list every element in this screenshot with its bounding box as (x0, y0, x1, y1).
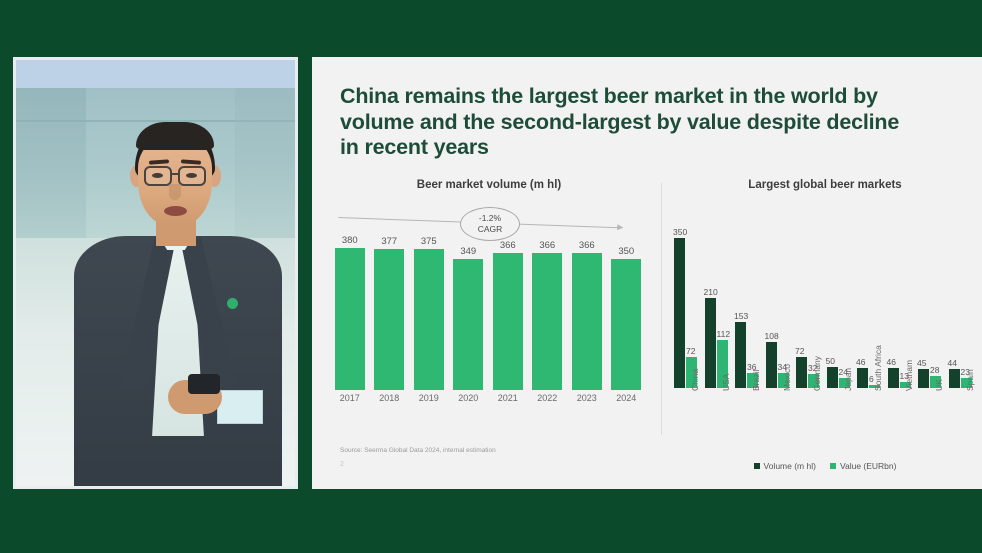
x-axis-tick-label: Spain (965, 369, 975, 391)
beer-market-volume-chart[interactable]: Beer market volume (m hl) 38037737534936… (322, 179, 652, 459)
presentation-slide[interactable]: China remains the largest beer market in… (312, 57, 982, 489)
bar-column: 375 (414, 236, 444, 390)
slide-page-number: 2 (340, 461, 344, 468)
cagr-value: -1.2% (479, 213, 501, 224)
legend-label: Value (EURbn) (840, 461, 897, 471)
volume-value-label: 45 (917, 358, 926, 368)
volume-bar (796, 357, 807, 388)
volume-bar (918, 369, 929, 388)
left-chart-title: Beer market volume (m hl) (326, 179, 652, 191)
volume-value-label: 350 (673, 227, 687, 237)
volume-value-label: 108 (765, 331, 779, 341)
value-value-label: 112 (717, 329, 731, 339)
speaker-glasses-bridge (172, 173, 178, 175)
volume-bar (705, 298, 716, 388)
speaker-hair-fringe (136, 122, 214, 150)
speaker-lapel-pin-icon (227, 298, 238, 309)
bar-column: 380 (335, 235, 365, 391)
bar (611, 259, 641, 390)
x-axis-tick-label: Vietnam (904, 360, 914, 391)
bar (493, 253, 523, 390)
x-axis-tick-label: USA (721, 374, 731, 391)
cagr-arrow-icon (617, 224, 623, 230)
volume-value-label: 44 (948, 358, 957, 368)
volume-bar (735, 322, 746, 388)
bar (572, 253, 602, 390)
largest-global-beer-markets-chart[interactable]: Largest global beer markets 350722101121… (668, 179, 982, 459)
x-axis-tick-label: South Africa (873, 345, 883, 391)
bar (414, 249, 444, 390)
slide-source-note: Source: Seerma Global Data 2024, interna… (340, 447, 496, 454)
speaker-name-badge (217, 390, 263, 424)
cagr-annotation: -1.2% CAGR (460, 207, 520, 241)
x-axis-tick-label: 2023 (572, 393, 602, 403)
x-axis-tick-label: 2019 (414, 393, 444, 403)
chart-divider (661, 183, 662, 435)
bar-value-label: 349 (453, 246, 483, 257)
x-axis-tick-label: 2017 (335, 393, 365, 403)
bar (453, 259, 483, 390)
bar-column: 349 (453, 246, 483, 390)
volume-bar (827, 367, 838, 388)
volume-value-label: 46 (856, 357, 865, 367)
speaker-mouth (164, 206, 187, 216)
volume-value-label: 210 (704, 287, 718, 297)
bar-column: 377 (374, 236, 404, 390)
x-axis-tick-label: Mexico (782, 364, 792, 391)
volume-bar (674, 238, 685, 388)
x-axis-tick-label: China (690, 369, 700, 391)
volume-bar (857, 368, 868, 388)
right-chart-title: Largest global beer markets (668, 179, 982, 191)
bar (532, 253, 562, 390)
bar-pair (674, 238, 697, 388)
x-axis-tick-label: Germany (812, 356, 822, 391)
value-value-label: 28 (930, 365, 939, 375)
x-axis-tick-label: UK (934, 379, 944, 391)
bar-column: 366 (493, 240, 523, 390)
bar (335, 248, 365, 391)
speaker-nose (169, 184, 181, 200)
bar-column: 366 (572, 240, 602, 390)
speaker-clicker-device (188, 374, 220, 394)
speaker-glasses-left-lens (144, 166, 172, 186)
speaker-glasses-right-lens (178, 166, 206, 186)
video-background-upper (16, 60, 295, 88)
x-axis-tick-label: Brazil (751, 370, 761, 391)
speaker-video-pane[interactable] (13, 57, 298, 489)
bar-column: 350 (611, 246, 641, 390)
right-chart-x-axis: ChinaUSABrazilMexicoGermanyJapanSouth Af… (674, 391, 982, 453)
volume-value-label: 46 (887, 357, 896, 367)
legend-swatch-icon (754, 463, 760, 469)
legend-item[interactable]: Volume (m hl) (754, 461, 816, 471)
x-axis-tick-label: Japan (843, 368, 853, 391)
volume-value-label: 153 (734, 311, 748, 321)
cagr-label: CAGR (478, 224, 503, 235)
x-axis-tick-label: 2021 (493, 393, 523, 403)
left-chart-x-axis: 20172018201920202021202220232024 (330, 393, 646, 409)
bar-column: 366 (532, 240, 562, 390)
x-axis-tick-label: 2018 (374, 393, 404, 403)
legend-swatch-icon (830, 463, 836, 469)
volume-bar (888, 368, 899, 388)
volume-value-label: 72 (795, 346, 804, 356)
right-chart-legend: Volume (m hl)Value (EURbn) (668, 461, 982, 471)
volume-bar (766, 342, 777, 388)
x-axis-tick-label: 2024 (611, 393, 641, 403)
volume-bar (949, 369, 960, 388)
legend-label: Volume (m hl) (764, 461, 816, 471)
bar (374, 249, 404, 390)
value-value-label: 72 (686, 346, 695, 356)
right-chart-plot: 3507221011215336108347232502446646134528… (674, 213, 982, 388)
slide-title: China remains the largest beer market in… (340, 84, 982, 161)
legend-item[interactable]: Value (EURbn) (830, 461, 897, 471)
x-axis-tick-label: 2020 (453, 393, 483, 403)
volume-value-label: 50 (826, 356, 835, 366)
x-axis-tick-label: 2022 (532, 393, 562, 403)
